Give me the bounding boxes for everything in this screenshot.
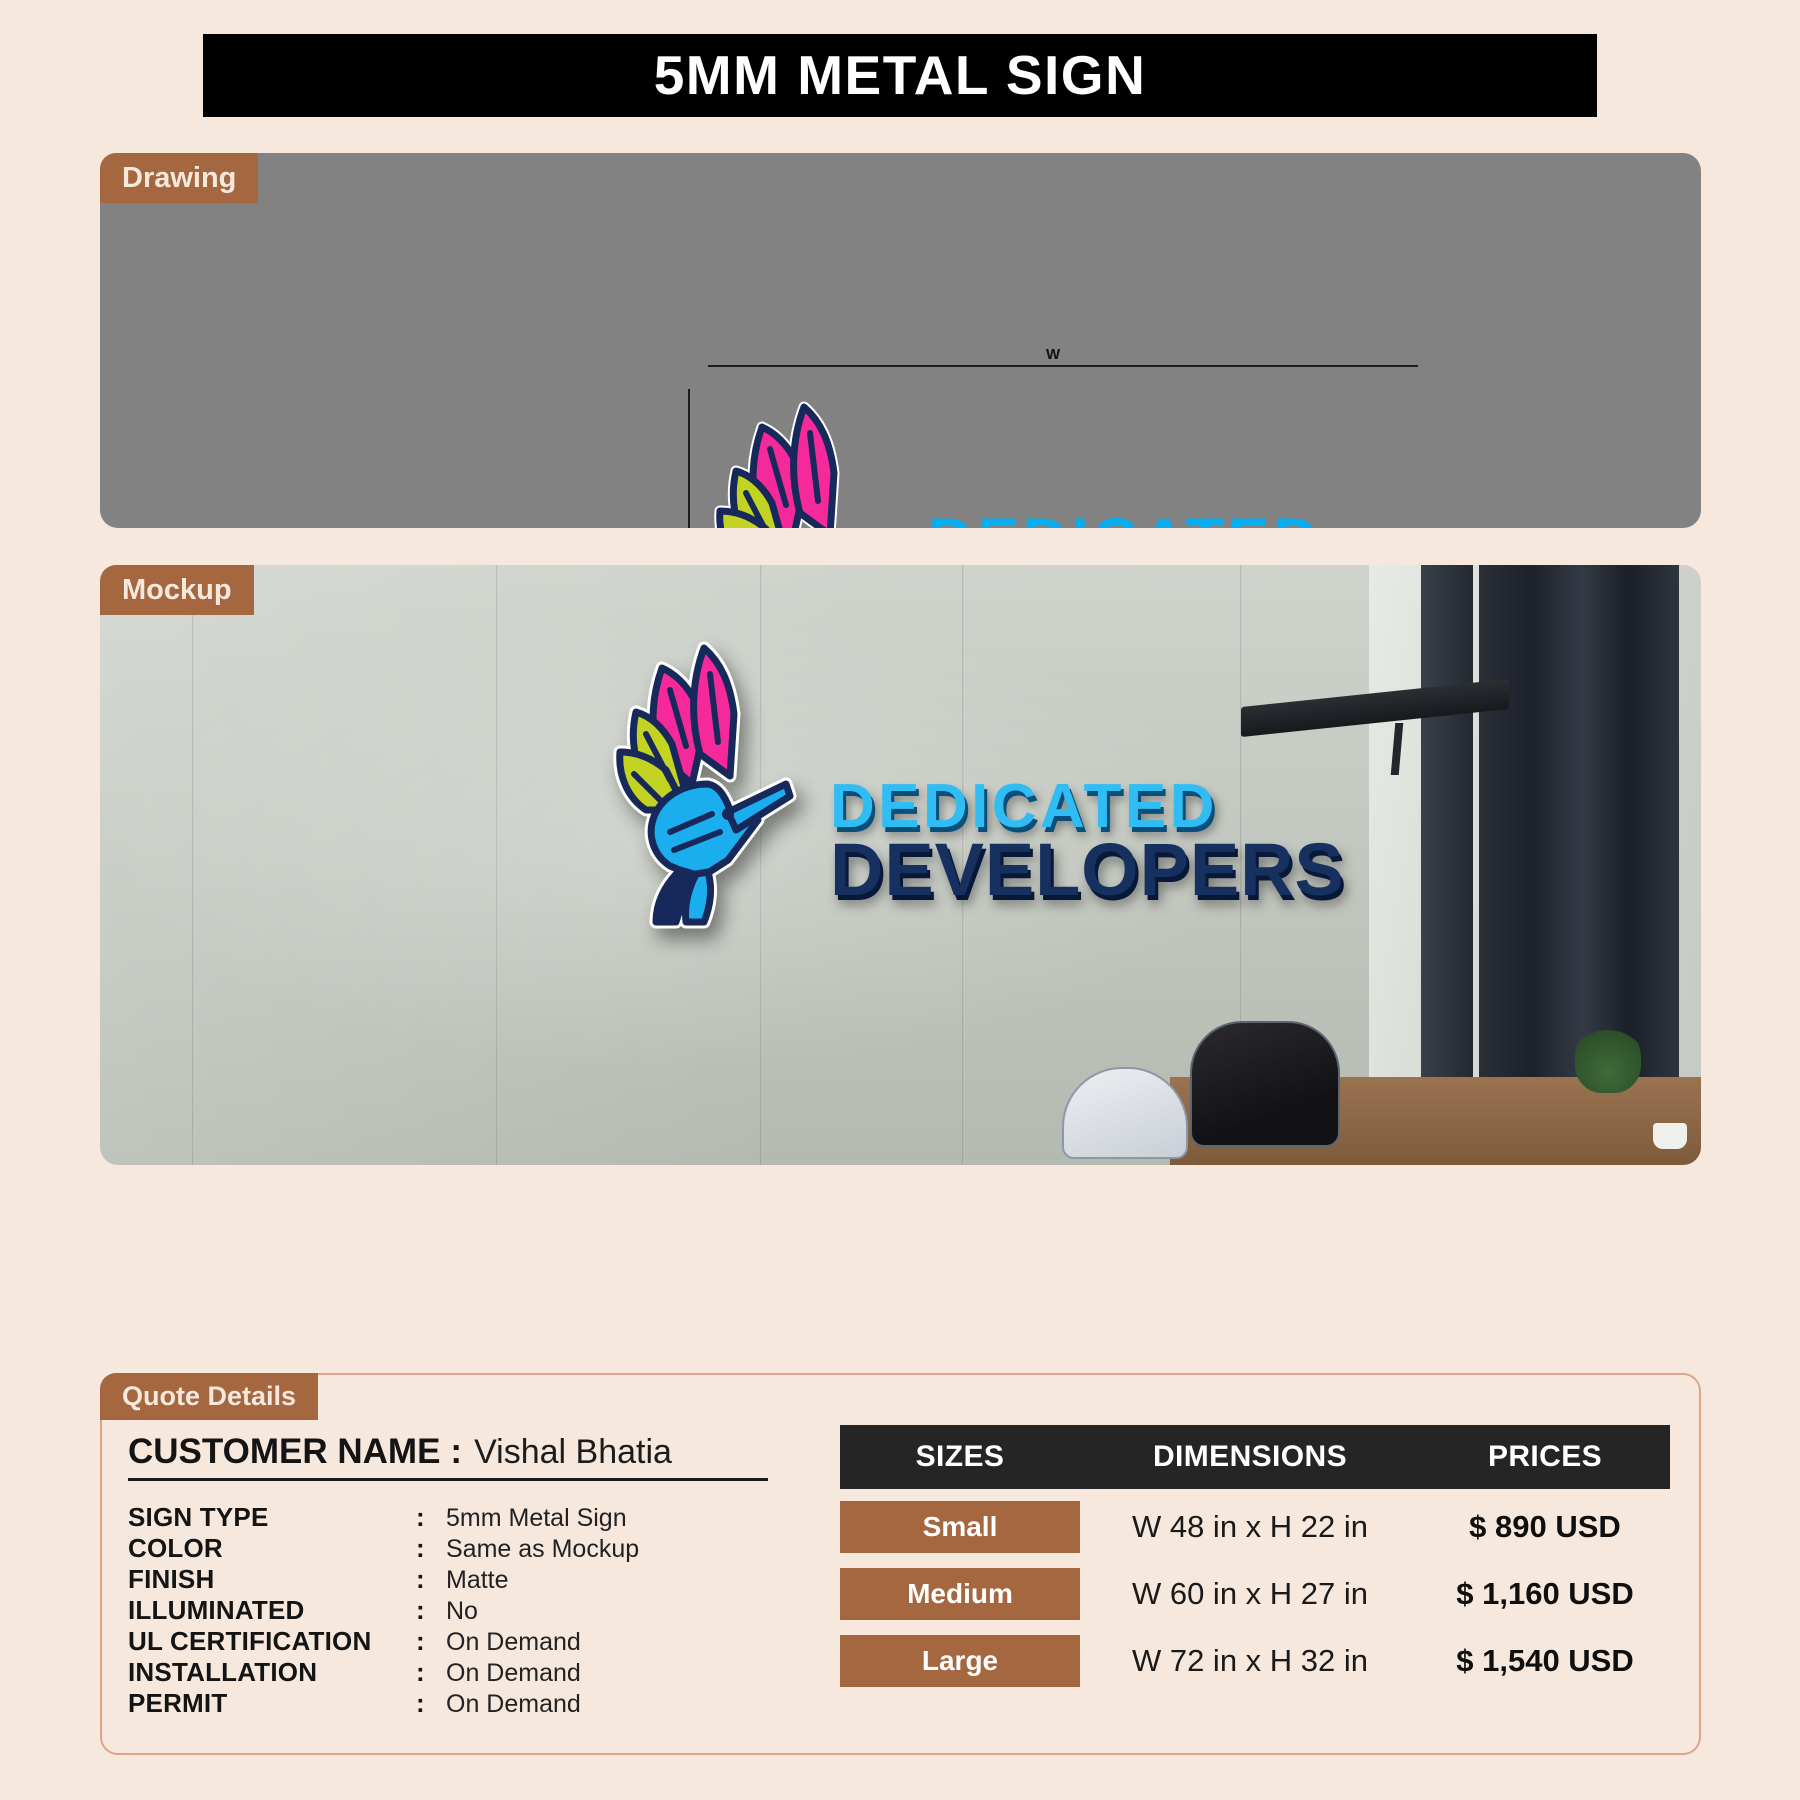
column-header-prices: PRICES	[1420, 1440, 1670, 1474]
spec-key: ILLUMINATED	[128, 1595, 416, 1626]
spec-value: Same as Mockup	[446, 1535, 639, 1564]
customer-name-row: CUSTOMER NAME : Vishal Bhatia	[128, 1432, 768, 1481]
spec-value: 5mm Metal Sign	[446, 1504, 627, 1533]
page-title: 5MM METAL SIGN	[654, 48, 1147, 103]
spec-colon: :	[416, 1595, 446, 1626]
page-title-bar: 5MM METAL SIGN	[203, 34, 1597, 117]
spec-row: FINISH : Matte	[128, 1564, 788, 1595]
chair-dark	[1190, 1021, 1340, 1147]
plant	[1575, 1023, 1641, 1093]
spec-value: On Demand	[446, 1628, 581, 1657]
specifications-list: SIGN TYPE : 5mm Metal Sign COLOR : Same …	[128, 1502, 788, 1719]
spec-row: INSTALLATION : On Demand	[128, 1657, 788, 1688]
mockup-panel: DEDICATED DEVELOPERS	[100, 565, 1701, 1165]
spec-key: FINISH	[128, 1564, 416, 1595]
wordmark: DEDICATED DEVELOPERS	[830, 778, 1345, 904]
size-cell: Medium	[840, 1568, 1080, 1620]
spec-colon: :	[416, 1657, 446, 1688]
spec-key: PERMIT	[128, 1688, 416, 1719]
spec-colon: :	[416, 1626, 446, 1657]
column-header-dimensions: DIMENSIONS	[1080, 1440, 1420, 1474]
quote-details-tab: Quote Details	[100, 1373, 318, 1420]
spec-row: PERMIT : On Demand	[128, 1688, 788, 1719]
spec-colon: :	[416, 1502, 446, 1533]
customer-name-colon: :	[450, 1432, 462, 1472]
spec-colon: :	[416, 1688, 446, 1719]
column-header-sizes: SIZES	[840, 1440, 1080, 1474]
dimension-cell: W 72 in x H 32 in	[1080, 1643, 1420, 1679]
wordmark-line2: DEVELOPERS	[830, 836, 1345, 905]
quote-details-panel: CUSTOMER NAME : Vishal Bhatia SIGN TYPE …	[100, 1373, 1701, 1755]
drawing-tab-label: Drawing	[122, 162, 236, 195]
hummingbird-svg	[700, 393, 900, 528]
logo-drawing: DEDICATED DEVELOPERS	[700, 393, 1450, 528]
curtain-secondary	[1421, 565, 1473, 1165]
size-cell: Large	[840, 1635, 1080, 1687]
mockup-tab: Mockup	[100, 565, 254, 615]
table-row: Small W 48 in x H 22 in $ 890 USD	[840, 1498, 1670, 1556]
dimension-cell: W 48 in x H 22 in	[1080, 1509, 1420, 1545]
size-cell: Small	[840, 1501, 1080, 1553]
spec-colon: :	[416, 1564, 446, 1595]
spec-key: SIGN TYPE	[128, 1502, 416, 1533]
spec-value: On Demand	[446, 1659, 581, 1688]
spec-row: SIGN TYPE : 5mm Metal Sign	[128, 1502, 788, 1533]
hummingbird-icon	[700, 393, 900, 528]
mockup-tab-label: Mockup	[122, 574, 232, 607]
quote-sheet: 5MM METAL SIGN W H	[0, 0, 1800, 1800]
spec-row: ILLUMINATED : No	[128, 1595, 788, 1626]
quote-details-tab-label: Quote Details	[122, 1381, 296, 1412]
spec-key: COLOR	[128, 1533, 416, 1564]
width-dimension-line	[708, 365, 1418, 367]
width-dimension-label: W	[1046, 346, 1060, 363]
cup	[1653, 1123, 1687, 1149]
customer-name-value: Vishal Bhatia	[474, 1433, 672, 1472]
spec-value: On Demand	[446, 1690, 581, 1719]
logo-mockup: DEDICATED DEVELOPERS	[600, 605, 1345, 958]
hummingbird-icon	[600, 605, 800, 958]
wordmark: DEDICATED DEVELOPERS	[928, 512, 1450, 528]
customer-name-label: CUSTOMER NAME	[128, 1432, 440, 1472]
spec-value: Matte	[446, 1566, 509, 1595]
drawing-tab: Drawing	[100, 153, 258, 203]
table-row: Large W 72 in x H 32 in $ 1,540 USD	[840, 1632, 1670, 1690]
spec-value: No	[446, 1597, 478, 1626]
spec-key: UL CERTIFICATION	[128, 1626, 416, 1657]
drawing-panel: W H	[100, 153, 1701, 528]
spec-colon: :	[416, 1533, 446, 1564]
table-row: Medium W 60 in x H 27 in $ 1,160 USD	[840, 1565, 1670, 1623]
price-cell: $ 890 USD	[1420, 1509, 1670, 1545]
spec-key: INSTALLATION	[128, 1657, 416, 1688]
price-cell: $ 1,160 USD	[1420, 1576, 1670, 1612]
hummingbird-svg	[600, 605, 800, 953]
price-cell: $ 1,540 USD	[1420, 1643, 1670, 1679]
spec-row: UL CERTIFICATION : On Demand	[128, 1626, 788, 1657]
wordmark-line1: DEDICATED	[928, 512, 1450, 528]
price-table: SIZES DIMENSIONS PRICES Small W 48 in x …	[840, 1425, 1670, 1690]
price-table-header: SIZES DIMENSIONS PRICES	[840, 1425, 1670, 1489]
dimension-cell: W 60 in x H 27 in	[1080, 1576, 1420, 1612]
height-dimension-line	[688, 389, 690, 528]
spec-row: COLOR : Same as Mockup	[128, 1533, 788, 1564]
